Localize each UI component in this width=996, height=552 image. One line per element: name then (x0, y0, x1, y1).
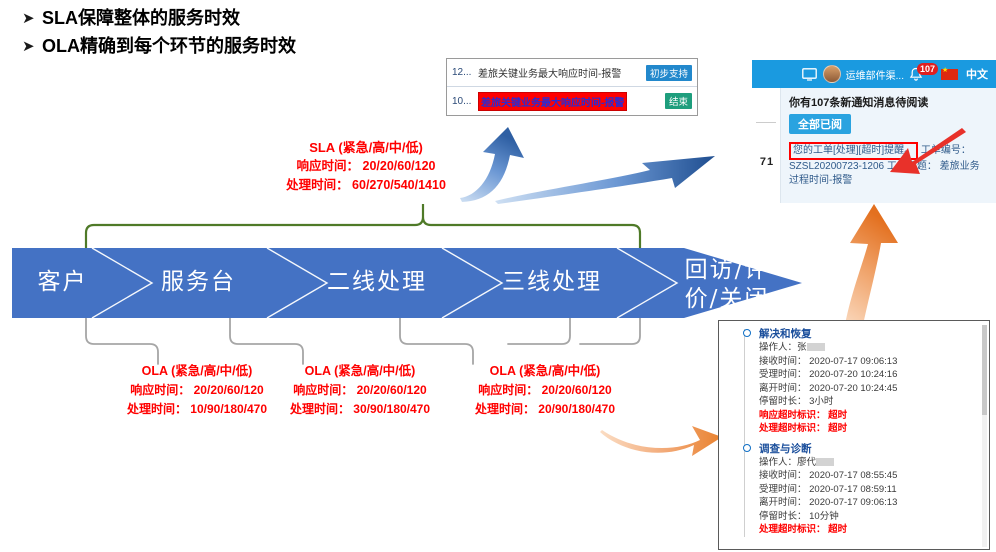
notification-username[interactable]: 运维部件渠... (846, 67, 904, 82)
process-stage-close[interactable]: 回访/评 价/关闭 (667, 256, 787, 314)
ola-response-time: 响应时间： 20/20/60/120 (440, 381, 650, 400)
ola-annotation-second-line: OLA (紧急/高/中/低) 响应时间： 20/20/60/120 处理时间： … (255, 362, 465, 419)
timeline-leave-time: 离开时间： 2020-07-20 10:24:45 (759, 382, 985, 396)
timeline-dot-icon (743, 329, 751, 337)
timeline-leave-time: 离开时间： 2020-07-17 09:06:13 (759, 496, 985, 510)
operator-label: 操作人： (759, 342, 797, 353)
process-stage-servicedesk[interactable]: 服务台 (136, 269, 261, 296)
timeline-item-resolution[interactable]: 解决和恢复 操作人：张 接收时间： 2020-07-17 09:06:13 受理… (723, 327, 985, 436)
list-item: ➤ SLA保障整体的服务时效 (22, 6, 542, 31)
timeline-duration: 停留时长： 3小时 (759, 395, 985, 409)
process-stage-third-line[interactable]: 三线处理 (482, 269, 622, 296)
timeline-duration: 停留时长： 10分钟 (759, 510, 985, 524)
bullet-text: SLA保障整体的服务时效 (42, 6, 240, 31)
timeline-operator: 操作人：廖代 (759, 456, 985, 470)
process-stage-labels: 客户 服务台 二线处理 三线处理 回访/评 价/关闭 (12, 248, 812, 318)
bell-icon[interactable]: 107 (909, 66, 935, 82)
orange-swoosh-arrow (596, 404, 726, 459)
timeline-item-title: 调查与诊断 (759, 442, 985, 456)
notification-panel: 运维部件渠... 107 中文 71 你有107条新通知消息待阅读 全部已阅 您… (752, 60, 996, 203)
monitor-icon[interactable] (802, 68, 817, 81)
status-badge: 结束 (665, 93, 692, 109)
alert-id: 12... (452, 67, 478, 78)
process-stage-second-line[interactable]: 二线处理 (307, 269, 447, 296)
timeline-response-overtime-flag: 响应超时标识： 超时 (759, 409, 985, 423)
alert-id: 10... (452, 96, 478, 107)
ola-response-time: 响应时间： 20/20/60/120 (255, 381, 465, 400)
ticket-timeline-panel: 解决和恢复 操作人：张 接收时间： 2020-07-17 09:06:13 受理… (718, 320, 990, 550)
table-row[interactable]: 12... 差旅关键业务最大响应时间-报警 初步支持 (447, 59, 697, 87)
operator-name: 张 (797, 342, 807, 353)
blue-curved-up-arrow (460, 127, 524, 202)
timeline-accept-time: 受理时间： 2020-07-17 08:59:11 (759, 483, 985, 497)
timeline-received-time: 接收时间： 2020-07-17 09:06:13 (759, 355, 985, 369)
alert-list-popup: 12... 差旅关键业务最大响应时间-报警 初步支持 10... 差旅关键业务最… (446, 58, 698, 116)
unread-count-text: 你有107条新通知消息待阅读 (789, 94, 988, 110)
slide-canvas: ➤ SLA保障整体的服务时效 ➤ OLA精确到每个环节的服务时效 SLA (紧急… (0, 0, 996, 552)
process-stage-customer[interactable]: 客户 (20, 269, 105, 296)
timeline-handle-overtime-flag: 处理超时标识： 超时 (759, 422, 985, 436)
bullet-list: ➤ SLA保障整体的服务时效 ➤ OLA精确到每个环节的服务时效 (22, 6, 542, 62)
timeline-accept-time: 受理时间： 2020-07-20 10:24:16 (759, 368, 985, 382)
side-number: 71 (754, 156, 780, 168)
flag-icon (941, 69, 958, 80)
table-row[interactable]: 10... 差旅关键业务最大响应时间-报警 结束 (447, 87, 697, 115)
timeline-operator: 操作人：张 (759, 341, 985, 355)
alert-title: 差旅关键业务最大响应时间-报警 (478, 65, 642, 80)
notification-topbar: 运维部件渠... 107 中文 (752, 60, 996, 88)
orange-up-arrow (828, 196, 908, 336)
notification-message[interactable]: 您的工单[处理][超时]提醒。 工单编号：SZSL20200723-1206 工… (789, 142, 988, 188)
arrow-bullet-icon: ➤ (22, 34, 42, 59)
mark-all-read-button[interactable]: 全部已阅 (789, 114, 851, 134)
notification-badge-count: 107 (917, 63, 938, 75)
timeline-received-time: 接收时间： 2020-07-17 08:55:45 (759, 469, 985, 483)
list-item: ➤ OLA精确到每个环节的服务时效 (22, 34, 542, 59)
redaction-block (807, 343, 825, 351)
notification-message-highlight: 您的工单[处理][超时]提醒。 (789, 142, 918, 160)
bullet-text: OLA精确到每个环节的服务时效 (42, 34, 296, 59)
blue-swoosh-arrow (495, 156, 715, 204)
redaction-block (816, 458, 834, 466)
ola-handle-time: 处理时间： 30/90/180/470 (255, 400, 465, 419)
timeline-dot-icon (743, 444, 751, 452)
scrollbar-thumb[interactable] (982, 325, 987, 415)
arrow-bullet-icon: ➤ (22, 6, 42, 31)
status-badge: 初步支持 (646, 65, 692, 81)
notification-body: 你有107条新通知消息待阅读 全部已阅 您的工单[处理][超时]提醒。 工单编号… (780, 88, 996, 203)
timeline-item-diagnosis[interactable]: 调查与诊断 操作人：廖代 接收时间： 2020-07-17 08:55:45 受… (723, 442, 985, 537)
language-switch[interactable]: 中文 (966, 66, 988, 82)
blue-arrows-group (450, 118, 750, 243)
notification-side-column: 71 (752, 88, 781, 203)
timeline-item-title: 解决和恢复 (759, 327, 985, 341)
operator-label: 操作人： (759, 457, 797, 468)
timeline-handle-overtime-flag: 处理超时标识： 超时 (759, 523, 985, 537)
avatar[interactable] (823, 65, 841, 83)
alert-title-highlighted: 差旅关键业务最大响应时间-报警 (478, 92, 627, 111)
operator-name: 廖代 (797, 457, 816, 468)
divider (756, 122, 776, 123)
